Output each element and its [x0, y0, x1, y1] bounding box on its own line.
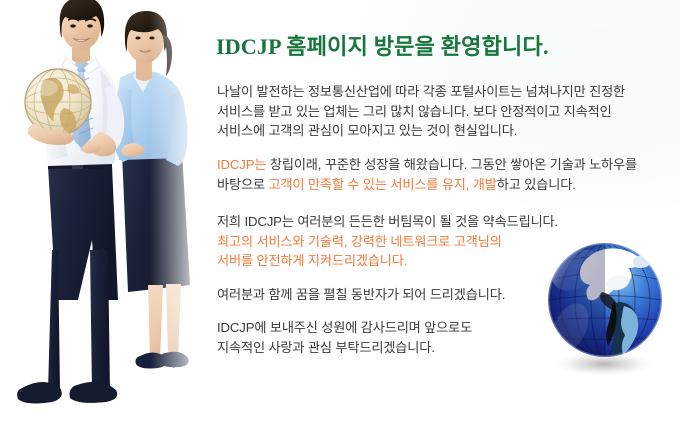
business-people-photo: [0, 0, 210, 431]
body-text: 하고 있습니다.: [497, 177, 576, 192]
accent-text: IDCJP는: [217, 157, 266, 172]
body-text: IDCJP에 보내주신 성원에 감사드리며 앞으로도: [217, 320, 472, 335]
accent-text: 최고의 서비스와 기술력, 강력한 네트워크로 고객님의: [217, 234, 502, 249]
body-text: 지속적인 사랑과 관심 부탁드리겠습니다.: [217, 340, 435, 355]
body-text: 저희 IDCJP는 여러분의 든든한 버팀목이 될 것을 약속드립니다.: [217, 214, 558, 229]
body-text: 여러분과 함께 꿈을 펼칠 동반자가 되어 드리겠습니다.: [217, 287, 505, 302]
body-text: 서비스를 받고 있는 업체는 그리 많치 않습니다. 보다 안정적이고 지속적인: [217, 104, 612, 119]
accent-text: 고객이 만족할 수 있는 서비스를 유지, 개발: [268, 177, 496, 192]
text-line: 서비스를 받고 있는 업체는 그리 많치 않습니다. 보다 안정적이고 지속적인: [217, 102, 679, 122]
text-line: IDCJP는 창립이래, 꾸준한 성장을 해왔습니다. 그동안 쌓아온 기술과 …: [217, 155, 679, 175]
text-line: 저희 IDCJP는 여러분의 든든한 버팀목이 될 것을 약속드립니다.: [217, 212, 647, 232]
welcome-page: IDCJP 홈페이지 방문을 환영합니다. 나날이 발전하는 정보통신산업에 따…: [0, 0, 680, 431]
body-text: 나날이 발전하는 정보통신산업에 따라 각종 포털사이트는 넘쳐나지만 진정한: [217, 84, 625, 99]
paragraph-2: IDCJP는 창립이래, 꾸준한 성장을 해왔습니다. 그동안 쌓아온 기술과 …: [217, 155, 679, 194]
body-text: 바탕으로: [217, 177, 268, 192]
paragraph-1: 나날이 발전하는 정보통신산업에 따라 각종 포털사이트는 넘쳐나지만 진정한서…: [217, 82, 679, 141]
body-text: 창립이래, 꾸준한 성장을 해왔습니다. 그동안 쌓아온 기술과 노하우를: [266, 157, 637, 172]
body-text: 서비스에 고객의 관심이 모아지고 있는 것이 현실입니다.: [217, 123, 517, 138]
accent-text: 서버를 안전하게 지켜드리겠습니다.: [217, 253, 407, 268]
blue-globe-graphic: [540, 240, 674, 380]
text-line: 바탕으로 고객이 만족할 수 있는 서비스를 유지, 개발하고 있습니다.: [217, 175, 679, 195]
text-line: 서비스에 고객의 관심이 모아지고 있는 것이 현실입니다.: [217, 121, 679, 141]
page-title: IDCJP 홈페이지 방문을 환영합니다.: [216, 29, 549, 61]
text-line: 나날이 발전하는 정보통신산업에 따라 각종 포털사이트는 넘쳐나지만 진정한: [217, 82, 679, 102]
